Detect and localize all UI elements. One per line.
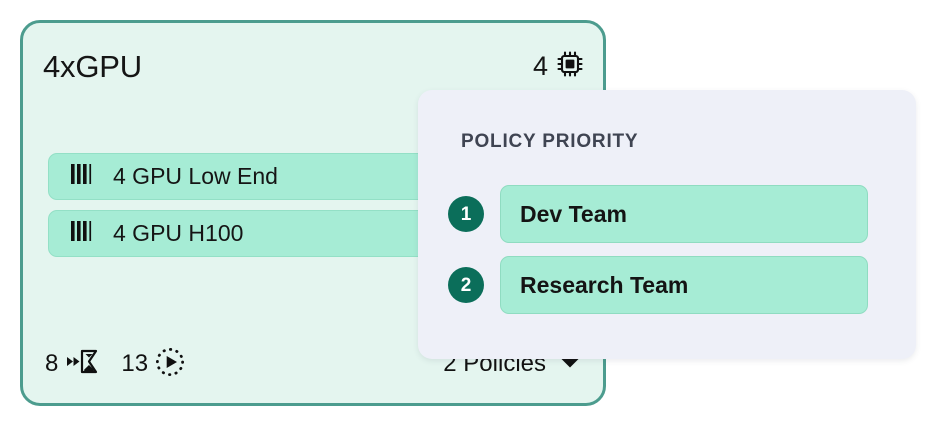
queued-hourglass-icon [65,348,99,381]
gpu-count-indicator: 4 [533,51,583,82]
running-jobs-stat[interactable]: 13 [121,347,185,382]
policy-rank-badge: 1 [448,196,484,232]
policy-priority-popover: POLICY PRIORITY 1 Dev Team 2 Research Te… [418,90,916,359]
gpu-bars-icon [70,219,96,248]
queued-jobs-stat[interactable]: 8 [45,348,99,381]
policy-pill-label: Research Team [520,274,688,297]
queued-jobs-value: 8 [45,352,58,376]
chip-icon [557,51,583,82]
card-header: 4xGPU 4 [43,45,583,87]
footer-stats: 8 13 [45,347,185,382]
popover-title: POLICY PRIORITY [461,132,638,151]
policy-rank-badge: 2 [448,267,484,303]
policy-pill[interactable]: Dev Team [500,185,868,243]
policy-priority-list: 1 Dev Team 2 Research Team [448,185,868,327]
policy-pill[interactable]: Research Team [500,256,868,314]
card-title: 4xGPU [43,51,142,82]
policy-list-item[interactable]: 1 Dev Team [448,185,868,243]
running-jobs-value: 13 [121,352,148,376]
gpu-row-label: 4 GPU Low End [113,165,278,188]
policy-list-item[interactable]: 2 Research Team [448,256,868,314]
policy-pill-label: Dev Team [520,203,627,226]
gpu-count-value: 4 [533,53,548,80]
gpu-row-label: 4 GPU H100 [113,222,243,245]
running-play-dotted-circle-icon [155,347,185,382]
gpu-bars-icon [70,162,96,191]
